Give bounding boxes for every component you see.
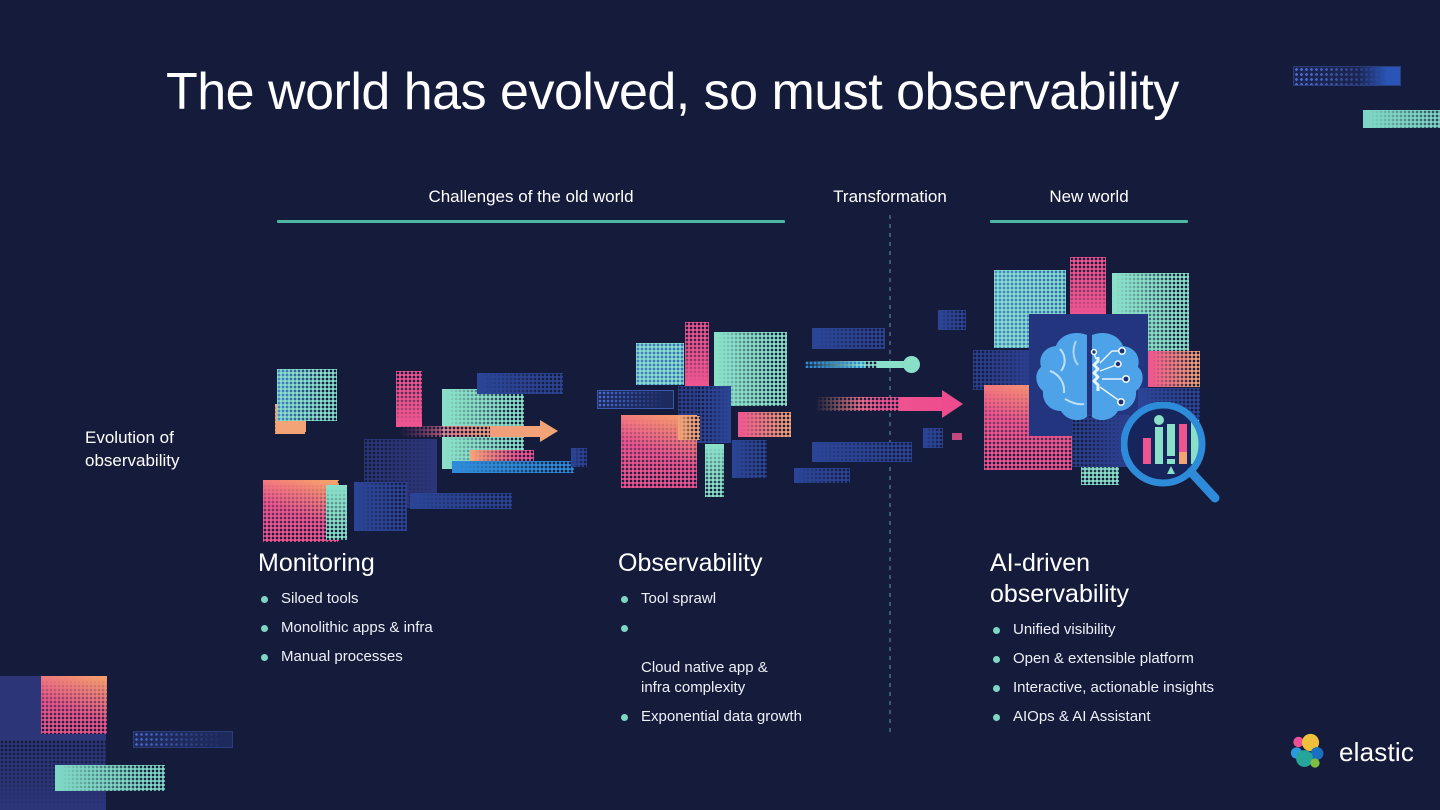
section-heading-line2: observability (990, 579, 1320, 610)
section-bullet-list: Tool sprawl Cloud native app & infra com… (618, 589, 948, 727)
bullet-dot-icon (993, 714, 1000, 721)
bar-teal-vertical (705, 444, 724, 497)
bar-navy-top-right (477, 373, 563, 394)
column-header-underline (277, 220, 785, 223)
column-header-label: Challenges of the old world (277, 187, 785, 207)
bullet-dot-icon (261, 654, 268, 661)
decor-pink-speck (952, 433, 962, 440)
decor-bottom-left-outline-bar (133, 731, 233, 748)
column-header-underline (990, 220, 1188, 223)
bullet-dot-icon (621, 714, 628, 721)
list-item-label: Unified visibility (1013, 621, 1116, 638)
decor-bottom-left-pink-square (41, 676, 107, 734)
list-item-label: Interactive, actionable insights (1013, 679, 1214, 696)
list-item-label: Cloud native app & infra complexity (641, 659, 768, 696)
evolution-axis-label-line1: Evolution of (85, 426, 265, 449)
list-item: Monolithic apps & infra (258, 618, 588, 638)
list-item: Manual processes (258, 647, 588, 667)
decor-bottom-left-teal-bar (55, 765, 165, 791)
illustration-ai-driven (960, 255, 1255, 520)
bullet-dot-icon (261, 625, 268, 632)
brand-name: elastic (1339, 737, 1414, 768)
bar-pink-vertical (685, 322, 709, 386)
section-bullet-list: Unified visibility Open & extensible pla… (990, 620, 1320, 727)
bar-navy-bottom-right (410, 493, 512, 509)
list-item: AIOps & AI Assistant (990, 707, 1320, 727)
bar-pink-orange-right (1148, 351, 1200, 387)
list-item-label: Siloed tools (281, 590, 359, 607)
section-bullet-list: Siloed tools Monolithic apps & infra Man… (258, 589, 588, 667)
tile-peach (678, 416, 700, 440)
bar-pink-top (1070, 257, 1106, 317)
connector-teal-line (805, 355, 930, 371)
bar-pink-vertical (396, 371, 422, 427)
column-header-new-world: New world (990, 187, 1188, 223)
tile-navy-bottom (732, 440, 767, 478)
list-item-label: Monolithic apps & infra (281, 619, 433, 636)
list-item-label: AIOps & AI Assistant (1013, 708, 1151, 725)
section-heading: AI-driven observability (990, 548, 1320, 610)
section-ai-driven: AI-driven observability Unified visibili… (990, 548, 1320, 736)
bullet-dot-icon (261, 596, 268, 603)
list-item-label: Open & extensible platform (1013, 650, 1194, 667)
bullet-dot-icon (993, 685, 1000, 692)
tile-teal-blue-speckle (277, 369, 337, 421)
brand-logo: elastic (1288, 732, 1414, 772)
arrow-right-icon (815, 390, 975, 416)
list-item-label: Exponential data growth (641, 708, 802, 725)
evolution-axis-label-line2: observability (85, 449, 265, 472)
tile-navy-mid-b (697, 386, 731, 443)
decor-top-right-teal-bar (1363, 110, 1440, 128)
bar-pink-orange (738, 412, 791, 437)
section-monitoring: Monitoring Siloed tools Monolithic apps … (258, 548, 588, 676)
bar-navy-left (973, 350, 1036, 390)
bullet-dot-icon (621, 625, 628, 632)
column-header-label: New world (990, 187, 1188, 207)
list-item: Tool sprawl (618, 589, 948, 609)
list-item: Siloed tools (258, 589, 588, 609)
tile-teal-topleft-speckle (636, 343, 684, 385)
bar-teal-vertical (326, 485, 347, 540)
list-item-label: Tool sprawl (641, 590, 716, 607)
bar-navy-topright (812, 328, 885, 349)
bar-navy-bottomright (812, 442, 912, 462)
list-item: Cloud native app & infra complexity (618, 618, 948, 698)
list-item: Interactive, actionable insights (990, 678, 1320, 698)
tile-navy-bottom (354, 482, 407, 531)
arrow-right-icon (400, 420, 580, 442)
bullet-dot-icon (621, 596, 628, 603)
illustration-monitoring (255, 365, 600, 540)
illustration-observability (590, 310, 985, 515)
bar-navy-bottomright-b (794, 468, 850, 483)
tile-navy-tiny-right (923, 428, 943, 448)
elastic-logo-icon (1288, 732, 1328, 772)
list-item: Open & extensible platform (990, 649, 1320, 669)
list-item: Unified visibility (990, 620, 1320, 640)
list-item-label: Manual processes (281, 648, 403, 665)
tile-navy-tiny-right (571, 448, 587, 467)
bar-navy-outline (597, 390, 674, 409)
bullet-dot-icon (993, 656, 1000, 663)
slide-root: The world has evolved, so must observabi… (0, 0, 1440, 810)
evolution-axis-label: Evolution of observability (85, 426, 265, 472)
section-heading: Monitoring (258, 548, 588, 579)
bullet-dot-icon (993, 627, 1000, 634)
magnifying-glass-icon (1121, 402, 1221, 512)
section-heading: Observability (618, 548, 948, 579)
section-observability: Observability Tool sprawl Cloud native a… (618, 548, 948, 736)
column-header-old-world: Challenges of the old world (277, 187, 785, 223)
list-item: Exponential data growth (618, 707, 948, 727)
page-title: The world has evolved, so must observabi… (166, 62, 1346, 122)
column-header-label: Transformation (790, 187, 990, 207)
bar-blue-right (452, 461, 574, 473)
section-heading-line1: AI-driven (990, 548, 1320, 579)
